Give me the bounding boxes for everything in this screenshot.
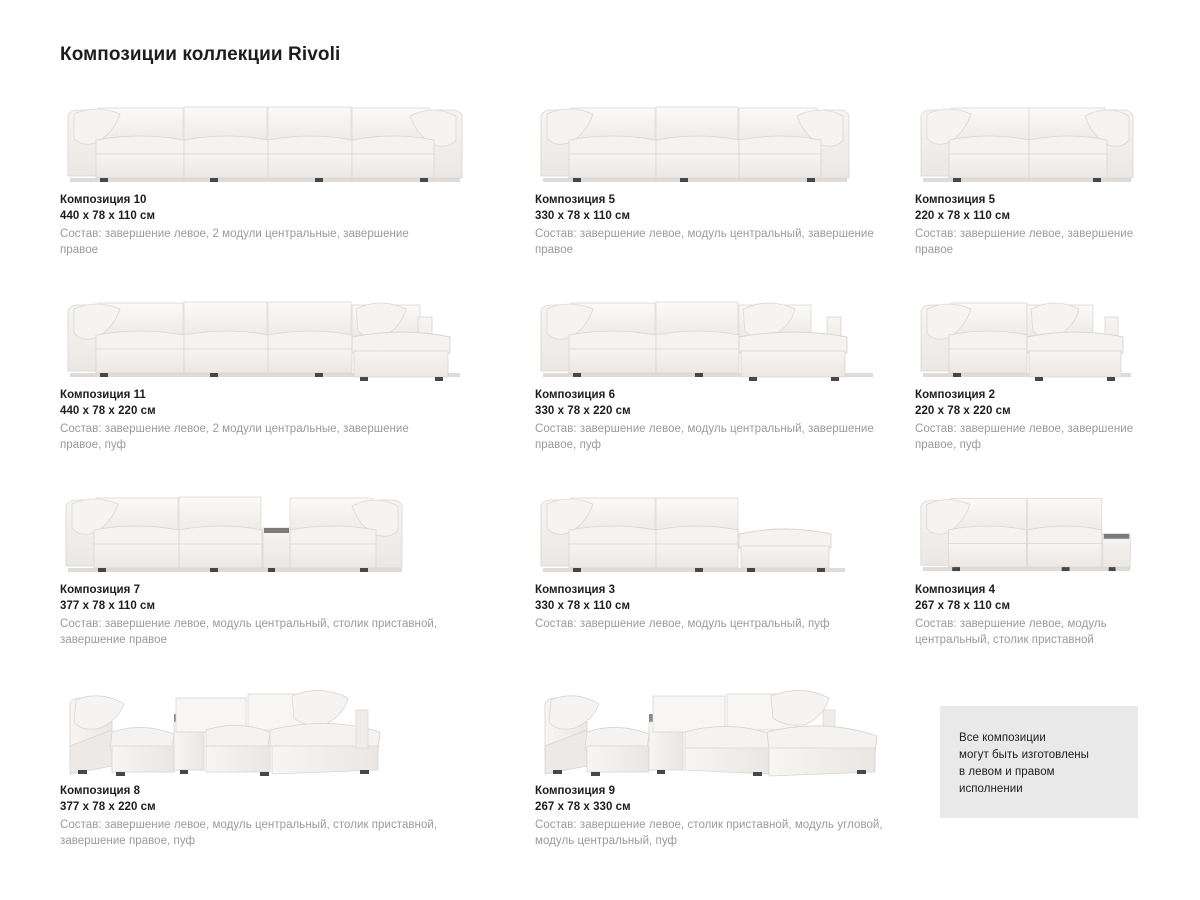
composition-modules: Состав: завершение левое, столик пристав… xyxy=(535,817,887,849)
composition-image-5 xyxy=(915,283,1140,383)
composition-dimensions: 377 x 78 x 220 см xyxy=(60,799,535,815)
composition-dimensions: 330 x 78 x 220 см xyxy=(535,403,915,419)
composition-image-6 xyxy=(60,478,535,578)
composition-modules: Состав: завершение левое, 2 модули центр… xyxy=(60,226,445,258)
composition-card-7[interactable]: Композиция 3 330 x 78 x 110 см Состав: з… xyxy=(535,478,915,632)
composition-caption-5: Композиция 2 220 x 78 x 220 см Состав: з… xyxy=(915,387,1140,453)
composition-image-3 xyxy=(60,283,535,383)
composition-dimensions: 267 x 78 x 110 см xyxy=(915,598,1140,614)
composition-caption-8: Композиция 4 267 x 78 x 110 см Состав: з… xyxy=(915,582,1140,648)
catalog-page: Композиции коллекции Rivoli xyxy=(0,0,1200,900)
composition-dimensions: 330 x 78 x 110 см xyxy=(535,598,915,614)
composition-name: Композиция 4 xyxy=(915,582,1140,598)
composition-image-0 xyxy=(60,88,535,188)
composition-name: Композиция 5 xyxy=(915,192,1140,208)
composition-caption-6: Композиция 7 377 x 78 x 110 см Состав: з… xyxy=(60,582,535,648)
composition-card-8[interactable]: Композиция 4 267 x 78 x 110 см Состав: з… xyxy=(915,478,1140,648)
composition-name: Композиция 5 xyxy=(535,192,915,208)
composition-card-4[interactable]: Композиция 6 330 x 78 x 220 см Состав: з… xyxy=(535,283,915,453)
composition-image-9 xyxy=(60,674,535,779)
composition-dimensions: 330 x 78 x 110 см xyxy=(535,208,915,224)
composition-card-1[interactable]: Композиция 5 330 x 78 x 110 см Состав: з… xyxy=(535,88,915,258)
composition-name: Композиция 3 xyxy=(535,582,915,598)
composition-dimensions: 440 x 78 x 220 см xyxy=(60,403,535,419)
note-box: Все композиции могут быть изготовлены в … xyxy=(940,706,1138,818)
composition-name: Композиция 10 xyxy=(60,192,535,208)
composition-caption-3: Композиция 11 440 x 78 x 220 см Состав: … xyxy=(60,387,535,453)
composition-image-8 xyxy=(915,478,1140,578)
composition-dimensions: 440 x 78 x 110 см xyxy=(60,208,535,224)
composition-caption-4: Композиция 6 330 x 78 x 220 см Состав: з… xyxy=(535,387,915,453)
composition-caption-0: Композиция 10 440 x 78 x 110 см Состав: … xyxy=(60,192,535,258)
composition-dimensions: 220 x 78 x 110 см xyxy=(915,208,1140,224)
grid-row: Композиция 7 377 x 78 x 110 см Состав: з… xyxy=(60,478,1140,674)
composition-card-0[interactable]: Композиция 10 440 x 78 x 110 см Состав: … xyxy=(60,88,535,258)
grid-row: Композиция 10 440 x 78 x 110 см Состав: … xyxy=(60,88,1140,283)
page-title: Композиции коллекции Rivoli xyxy=(60,44,340,66)
composition-name: Композиция 8 xyxy=(60,783,535,799)
composition-modules: Состав: завершение левое, модуль централ… xyxy=(60,616,445,648)
composition-card-10[interactable]: Композиция 9 267 x 78 x 330 см Состав: з… xyxy=(535,674,915,849)
composition-modules: Состав: завершение левое, модуль централ… xyxy=(535,616,887,632)
composition-caption-1: Композиция 5 330 x 78 x 110 см Состав: з… xyxy=(535,192,915,258)
composition-name: Композиция 11 xyxy=(60,387,535,403)
composition-image-10 xyxy=(535,674,915,779)
composition-caption-10: Композиция 9 267 x 78 x 330 см Состав: з… xyxy=(535,783,915,849)
composition-modules: Состав: завершение левое, завершение пра… xyxy=(915,226,1140,258)
composition-modules: Состав: завершение левое, завершение пра… xyxy=(915,421,1140,453)
composition-modules: Состав: завершение левое, модуль централ… xyxy=(60,817,445,849)
composition-name: Композиция 2 xyxy=(915,387,1140,403)
composition-dimensions: 220 x 78 x 220 см xyxy=(915,403,1140,419)
note-text: Все композиции могут быть изготовлены в … xyxy=(959,730,1089,798)
grid-row: Композиция 11 440 x 78 x 220 см Состав: … xyxy=(60,283,1140,478)
composition-image-2 xyxy=(915,88,1140,188)
composition-card-3[interactable]: Композиция 11 440 x 78 x 220 см Состав: … xyxy=(60,283,535,453)
composition-caption-7: Композиция 3 330 x 78 x 110 см Состав: з… xyxy=(535,582,915,632)
composition-name: Композиция 6 xyxy=(535,387,915,403)
composition-caption-9: Композиция 8 377 x 78 x 220 см Состав: з… xyxy=(60,783,535,849)
composition-name: Композиция 9 xyxy=(535,783,915,799)
composition-card-5[interactable]: Композиция 2 220 x 78 x 220 см Состав: з… xyxy=(915,283,1140,453)
composition-name: Композиция 7 xyxy=(60,582,535,598)
composition-card-6[interactable]: Композиция 7 377 x 78 x 110 см Состав: з… xyxy=(60,478,535,648)
composition-modules: Состав: завершение левое, модуль централ… xyxy=(535,421,887,453)
composition-image-7 xyxy=(535,478,915,578)
composition-modules: Состав: завершение левое, модуль централ… xyxy=(915,616,1140,648)
composition-dimensions: 267 x 78 x 330 см xyxy=(535,799,915,815)
composition-caption-2: Композиция 5 220 x 78 x 110 см Состав: з… xyxy=(915,192,1140,258)
composition-modules: Состав: завершение левое, модуль централ… xyxy=(535,226,887,258)
composition-card-9[interactable]: Композиция 8 377 x 78 x 220 см Состав: з… xyxy=(60,674,535,849)
composition-dimensions: 377 x 78 x 110 см xyxy=(60,598,535,614)
composition-card-2[interactable]: Композиция 5 220 x 78 x 110 см Состав: з… xyxy=(915,88,1140,258)
composition-modules: Состав: завершение левое, 2 модули центр… xyxy=(60,421,445,453)
composition-image-1 xyxy=(535,88,915,188)
composition-image-4 xyxy=(535,283,915,383)
